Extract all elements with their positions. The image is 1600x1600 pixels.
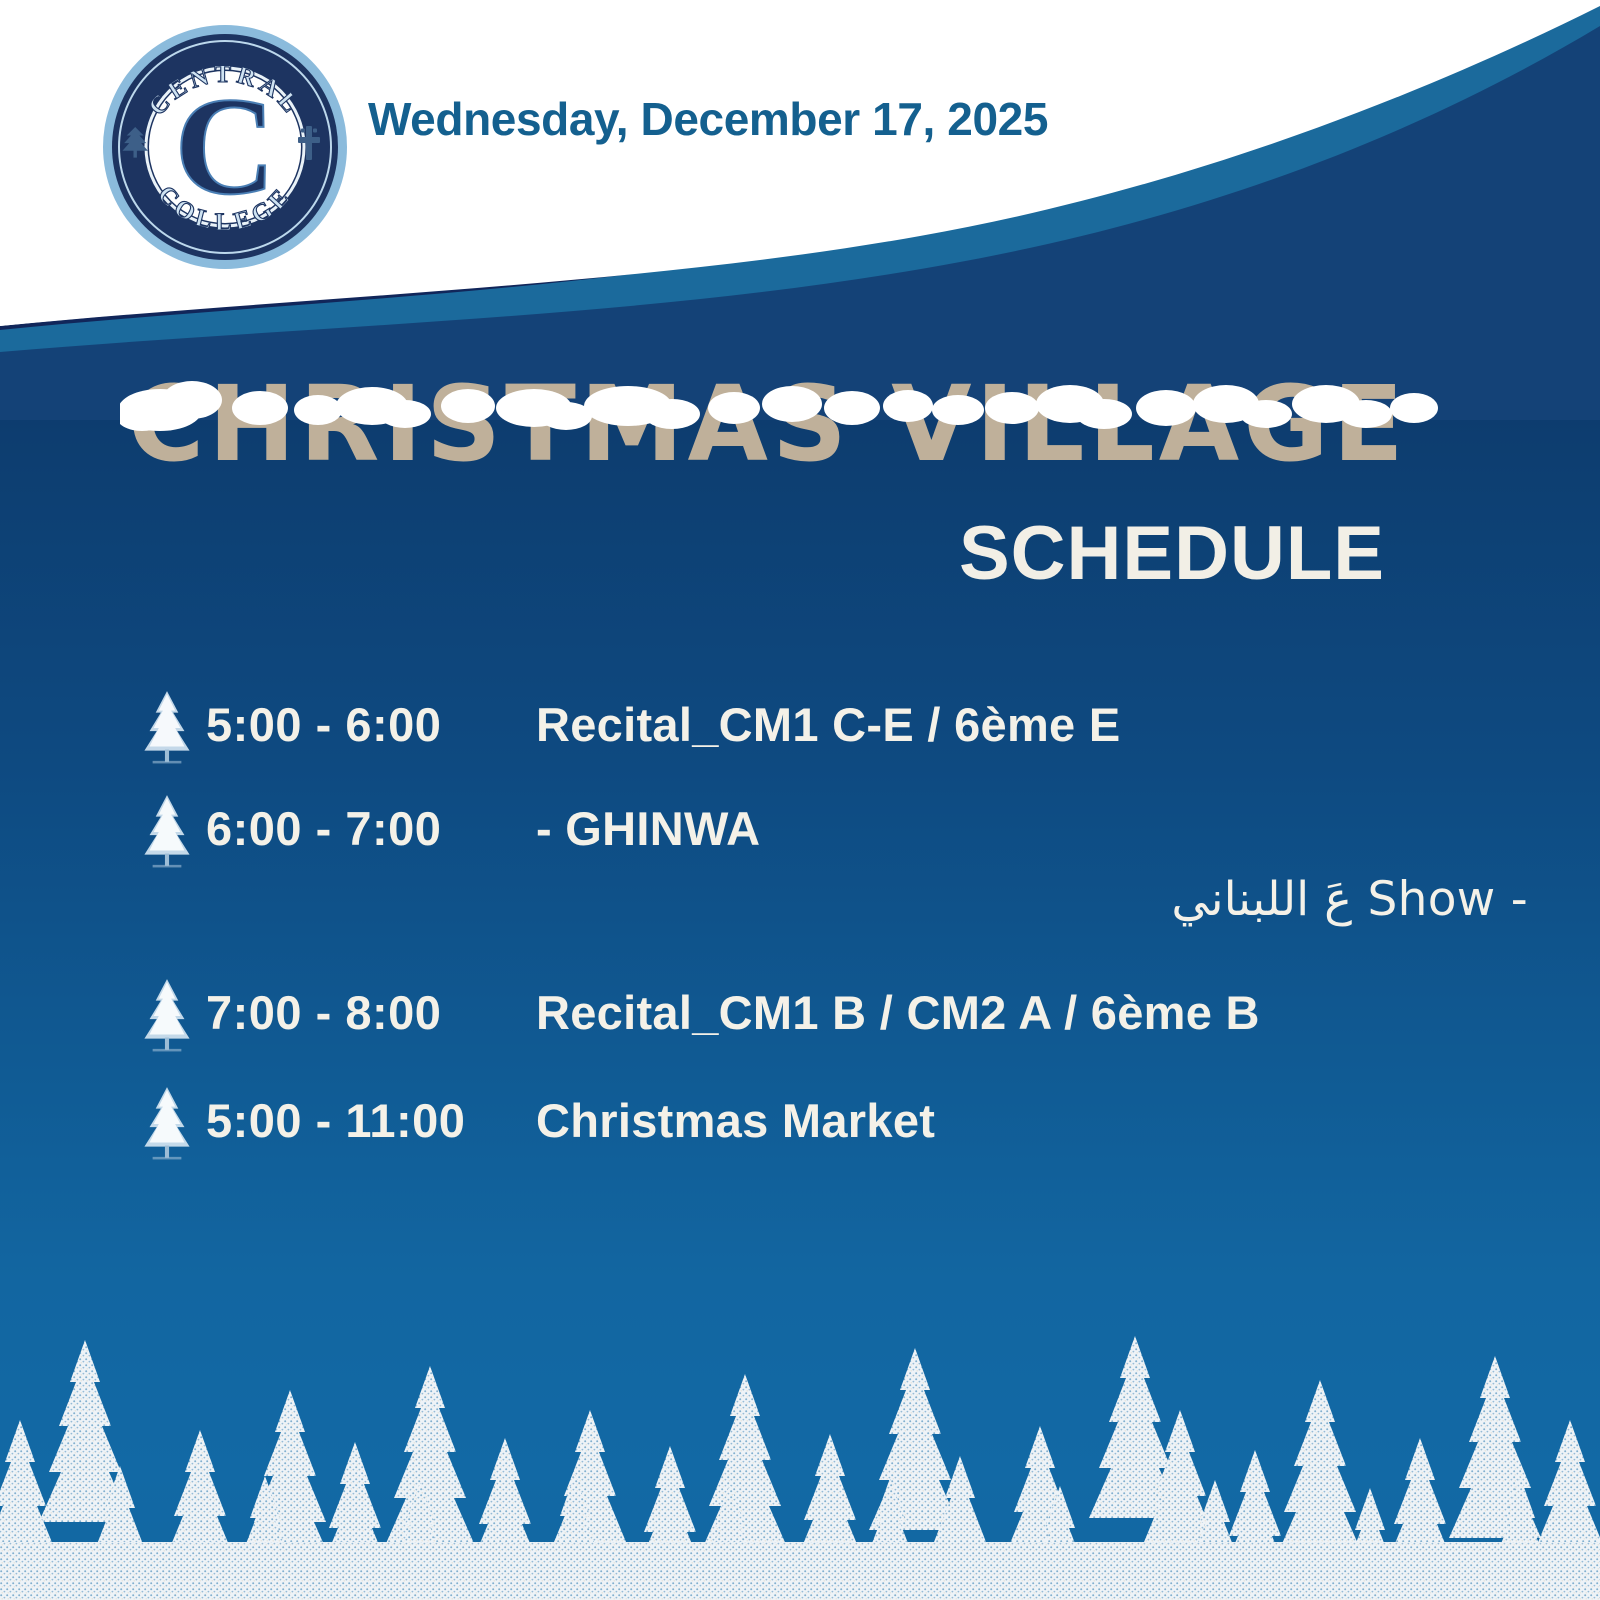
- schedule-description: Recital_CM1 C-E / 6ème E: [536, 686, 1528, 764]
- schedule-desc-line1: - GHINWA: [536, 802, 760, 855]
- central-college-logo: CENTRAL COLLEGE C: [100, 22, 350, 272]
- schedule-desc-line1: Recital_CM1 B / CM2 A / 6ème B: [536, 986, 1260, 1039]
- schedule-row: 5:00 - 11:00 Christmas Market: [128, 1082, 1528, 1160]
- snowy-pine-tree-icon: [128, 976, 206, 1054]
- schedule-time: 6:00 - 7:00: [206, 790, 536, 868]
- snowy-pine-tree-icon: [128, 792, 206, 870]
- schedule-description: Christmas Market: [536, 1082, 1528, 1160]
- schedule-row: 7:00 - 8:00 Recital_CM1 B / CM2 A / 6ème…: [128, 974, 1528, 1052]
- schedule-desc-line1: Christmas Market: [536, 1094, 935, 1147]
- schedule-desc-line2: - Show عَ اللبناني: [536, 864, 1528, 936]
- poster-canvas: CENTRAL COLLEGE C Wednesday, December 17…: [0, 0, 1600, 1600]
- schedule-row: 5:00 - 6:00 Recital_CM1 C-E / 6ème E: [128, 686, 1528, 764]
- schedule-desc-line1: Recital_CM1 C-E / 6ème E: [536, 698, 1121, 751]
- schedule-list: 5:00 - 6:00 Recital_CM1 C-E / 6ème E 6:0…: [128, 686, 1528, 1186]
- title-schedule: SCHEDULE: [959, 516, 1385, 592]
- schedule-time: 5:00 - 6:00: [206, 686, 536, 764]
- title-snow-caps: [120, 364, 1460, 434]
- snowy-pine-tree-icon: [128, 688, 206, 766]
- bottom-forest-decoration: [0, 1270, 1600, 1600]
- schedule-description: Recital_CM1 B / CM2 A / 6ème B: [536, 974, 1528, 1052]
- schedule-time: 5:00 - 11:00: [206, 1082, 536, 1160]
- logo-monogram: C: [174, 69, 275, 224]
- snowy-pine-tree-icon: [128, 1084, 206, 1162]
- schedule-row: 6:00 - 7:00 - GHINWA - Show عَ اللبناني: [128, 790, 1528, 936]
- event-date: Wednesday, December 17, 2025: [368, 92, 1048, 146]
- schedule-description: - GHINWA - Show عَ اللبناني: [536, 790, 1528, 936]
- schedule-time: 7:00 - 8:00: [206, 974, 536, 1052]
